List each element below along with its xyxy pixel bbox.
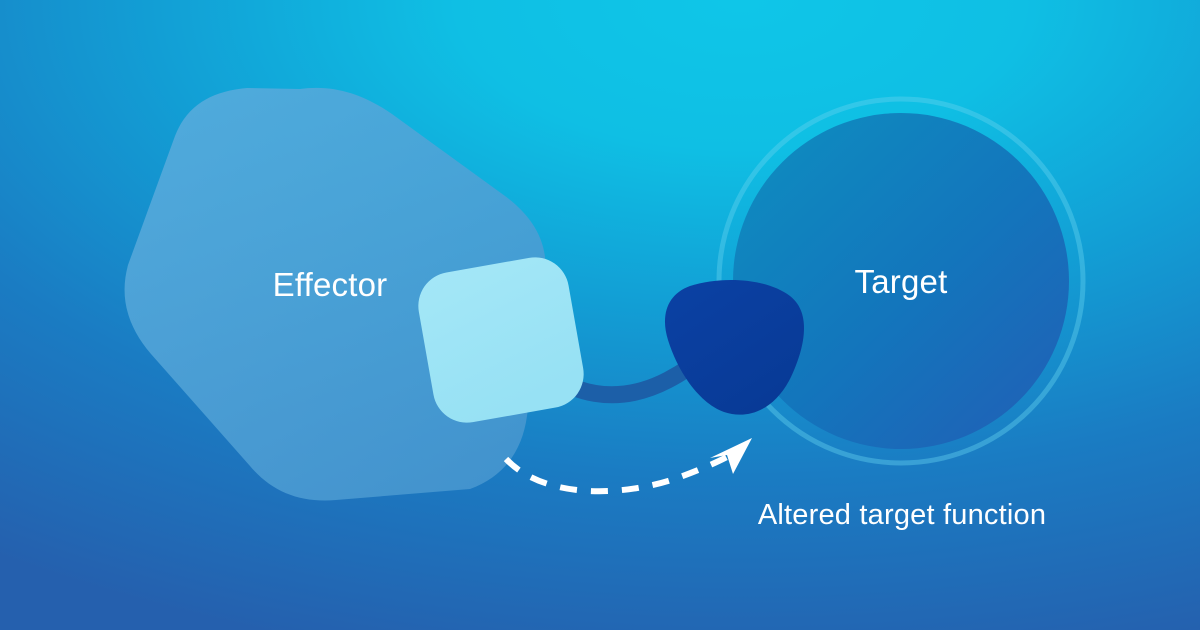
altered-function-caption: Altered target function xyxy=(758,499,1046,531)
caption-layer: Altered target function xyxy=(0,0,1200,630)
diagram-canvas: Effector Target Altered target function xyxy=(0,0,1200,630)
